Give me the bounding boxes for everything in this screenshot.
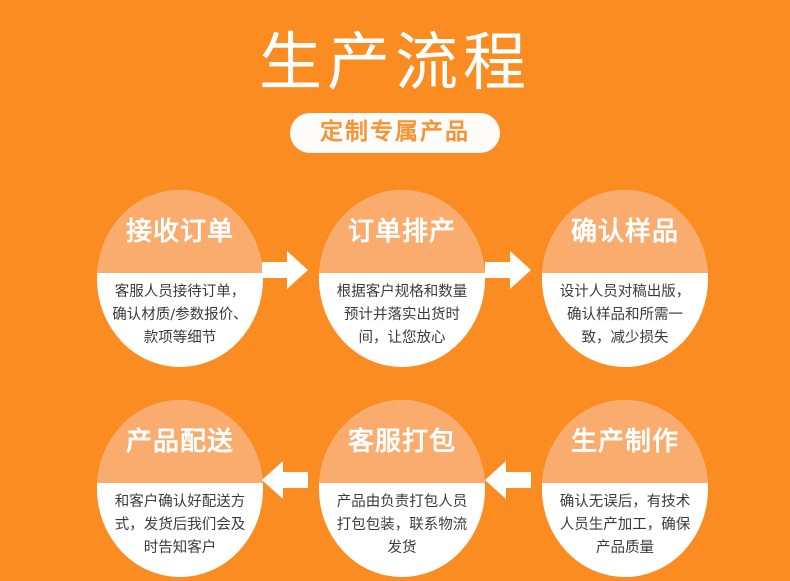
page-title: 生产流程 [0, 0, 790, 102]
flow-step-head: 接收订单 [97, 190, 263, 273]
flow-row-bottom: 产品配送 和客户确认好配送方式，发货后我们会及时告知客户 客服打包 产品由负责打… [0, 400, 790, 575]
flow-step-manufacturing[interactable]: 生产制作 确认无误后，有技术人员生产加工，确保产品质量 [542, 400, 708, 577]
flow-step-heading: 订单排产 [348, 217, 456, 247]
flow-diagram: 接收订单 客服人员接待订单，确认材质/参数报价、款项等细节 订单排产 根据客户规… [0, 190, 790, 581]
flow-step-service-packing[interactable]: 客服打包 产品由负责打包人员打包包装，联系物流发货 [319, 400, 485, 577]
flow-step-description: 客服人员接待订单，确认材质/参数报价、款项等细节 [111, 281, 249, 350]
production-flow-poster: 生产流程 定制专属产品 接收订单 客服人员接待订单，确认材质/参数报价、款项等细… [0, 0, 790, 581]
flow-step-head: 生产制作 [542, 400, 708, 483]
flow-step-head: 客服打包 [319, 400, 485, 483]
flow-step-body: 根据客户规格和数量预计并落实出货时间，让您放心 [319, 273, 485, 367]
flow-step-body: 客服人员接待订单，确认材质/参数报价、款项等细节 [97, 273, 263, 367]
arrow-left-icon [485, 459, 531, 501]
flow-step-description: 设计人员对稿出版，确认样品和所需一致，减少损失 [556, 281, 694, 350]
flow-step-body: 设计人员对稿出版，确认样品和所需一致，减少损失 [542, 273, 708, 367]
flow-step-product-delivery[interactable]: 产品配送 和客户确认好配送方式，发货后我们会及时告知客户 [97, 400, 263, 577]
flow-step-body: 确认无误后，有技术人员生产加工，确保产品质量 [542, 483, 708, 577]
flow-step-confirm-sample[interactable]: 确认样品 设计人员对稿出版，确认样品和所需一致，减少损失 [542, 190, 708, 367]
arrow-right-icon [262, 249, 308, 291]
poster-header: 生产流程 定制专属产品 [0, 0, 790, 153]
flow-step-heading: 客服打包 [348, 427, 456, 457]
flow-step-heading: 产品配送 [126, 427, 234, 457]
flow-step-heading: 接收订单 [126, 217, 234, 247]
flow-step-description: 确认无误后，有技术人员生产加工，确保产品质量 [556, 491, 694, 560]
flow-step-head: 订单排产 [319, 190, 485, 273]
flow-step-description: 根据客户规格和数量预计并落实出货时间，让您放心 [333, 281, 471, 350]
flow-row-top: 接收订单 客服人员接待订单，确认材质/参数报价、款项等细节 订单排产 根据客户规… [0, 190, 790, 365]
flow-step-description: 和客户确认好配送方式，发货后我们会及时告知客户 [111, 491, 249, 560]
flow-step-body: 和客户确认好配送方式，发货后我们会及时告知客户 [97, 483, 263, 577]
flow-step-head: 产品配送 [97, 400, 263, 483]
flow-step-body: 产品由负责打包人员打包包装，联系物流发货 [319, 483, 485, 577]
flow-step-schedule-production[interactable]: 订单排产 根据客户规格和数量预计并落实出货时间，让您放心 [319, 190, 485, 367]
flow-step-description: 产品由负责打包人员打包包装，联系物流发货 [333, 491, 471, 560]
subtitle-badge: 定制专属产品 [290, 113, 500, 153]
flow-step-head: 确认样品 [542, 190, 708, 273]
flow-step-heading: 生产制作 [571, 427, 679, 457]
arrow-right-icon [485, 249, 531, 291]
arrow-left-icon [262, 459, 308, 501]
flow-step-receive-order[interactable]: 接收订单 客服人员接待订单，确认材质/参数报价、款项等细节 [97, 190, 263, 367]
flow-step-heading: 确认样品 [571, 217, 679, 247]
